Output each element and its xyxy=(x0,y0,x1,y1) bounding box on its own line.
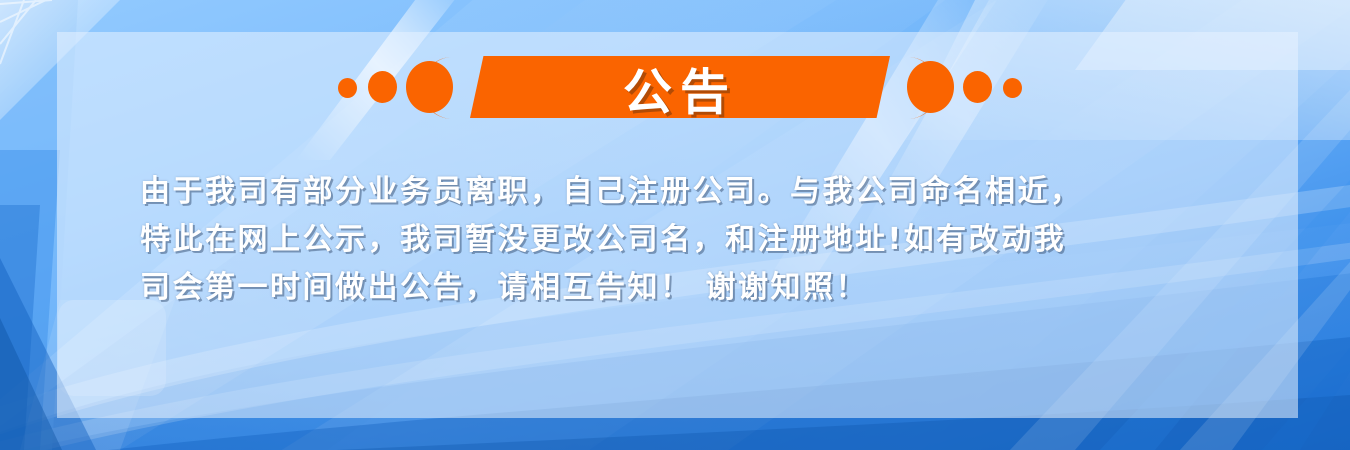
page-title: 公告 xyxy=(330,52,1030,124)
announcement-line-2: 特此在网上公示，我司暂没更改公司名，和注册地址!如有改动我 xyxy=(140,216,1230,264)
announcement-line-1: 由于我司有部分业务员离职，自己注册公司。与我公司命名相近， xyxy=(140,168,1230,216)
title-bar: 公告 xyxy=(330,52,1030,124)
announcement-body: 由于我司有部分业务员离职，自己注册公司。与我公司命名相近， 特此在网上公示，我司… xyxy=(140,168,1230,312)
announcement-line-3: 司会第一时间做出公告，请相互告知！ 谢谢知照！ xyxy=(140,264,1230,312)
announcement-banner: 公告 由于我司有部分业务员离职，自己注册公司。与我公司命名相近， 特此在网上公示… xyxy=(0,0,1350,450)
